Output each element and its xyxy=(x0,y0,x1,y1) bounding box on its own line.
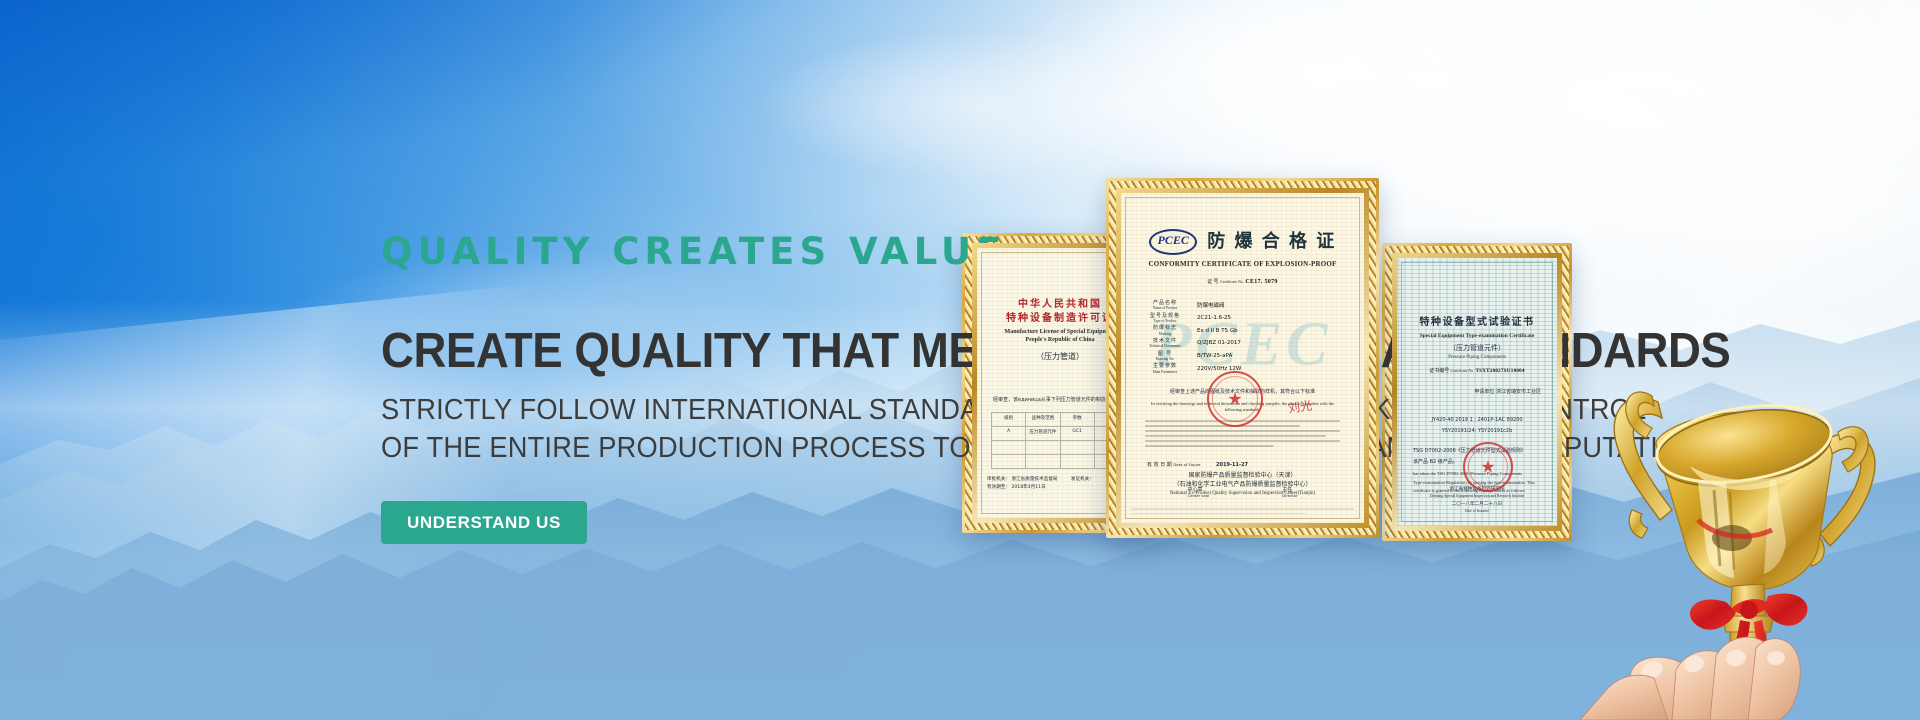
certificate-en-category: Pressure Piping Components xyxy=(1405,354,1549,361)
certificate-no-label: 编号： xyxy=(985,368,1121,375)
certificate-footnote-lines xyxy=(1121,505,1364,517)
official-seal-stamp xyxy=(1463,442,1513,492)
understand-us-button[interactable]: UNDERSTAND US xyxy=(381,501,587,544)
table-cell xyxy=(1061,455,1095,468)
seal-inner-ring xyxy=(1468,447,1508,487)
certificate-applicant-label: 申请单位 xyxy=(1474,389,1494,395)
table-row: 产品名称 Name of Product 防爆电磁阀 xyxy=(1135,299,1350,312)
table-cell xyxy=(1061,441,1095,454)
certificate-issuer-cn-line1: 国家防爆产品质量监督检验中心（天津） xyxy=(1121,471,1364,480)
certificate-en-title: Special Equipment Type-examination Certi… xyxy=(1405,333,1549,341)
field-value: 防爆电磁阀 xyxy=(1195,299,1350,312)
table-cell: GC1 xyxy=(1061,427,1095,440)
field-label: 防爆标志 Marking xyxy=(1135,324,1195,337)
certificate-cn-title: 特种设备型式试验证书 xyxy=(1405,316,1549,330)
certificate-no-label-en: Certificate No. xyxy=(1220,279,1244,284)
certificate-product-values: YSY20191i24; YSY20191c2b xyxy=(1442,428,1513,434)
official-seal-stamp xyxy=(1207,371,1263,427)
certificate-validity-value: 2018年4月11日 xyxy=(1011,485,1045,490)
field-label-cn: 图 号 xyxy=(1158,351,1173,357)
certificate-issuer-en: National Ex-Product Quality Supervision … xyxy=(1121,490,1364,498)
field-value: B/TW-25-aPA xyxy=(1195,350,1350,363)
certificate-no-value: CE17. 5079 xyxy=(1245,279,1277,285)
certificate-no-label-cn: 证 号 xyxy=(1207,280,1218,285)
certificate-approver-label: 审批机关： xyxy=(987,477,1010,482)
certificate-body-center: PCEC 防 爆 合 格 证 CONFORMITY CERTIFICATE OF… xyxy=(1135,229,1350,287)
certificate-frame-center[interactable]: PCEC PCEC 防 爆 合 格 证 CONFORMITY CERTIFICA… xyxy=(1106,178,1379,538)
field-label-en: Main Parameters xyxy=(1137,370,1193,374)
table-cell xyxy=(992,441,1026,454)
certificate-no-label-en: Certificate No. xyxy=(1450,368,1474,373)
field-value: 220V/50Hz 12W xyxy=(1195,362,1350,375)
certificate-cn-category: （压力管道元件） xyxy=(1405,344,1549,354)
director-signature: 刘光 xyxy=(1287,396,1313,416)
field-label: 型号及规格 Type of Product xyxy=(1135,312,1195,325)
certificate-approver-value: 浙江省质量技术监督局 xyxy=(1011,477,1057,482)
field-label-en: Technical Documents xyxy=(1137,344,1193,348)
field-label-en: Type of Product xyxy=(1137,319,1193,323)
field-label-en: Marking xyxy=(1137,332,1193,336)
table-header-cell: 级别 xyxy=(992,413,1026,426)
field-label-en: Drawing No. xyxy=(1137,357,1193,361)
table-cell: A xyxy=(992,427,1026,440)
table-cell xyxy=(992,455,1026,468)
table-cell xyxy=(1026,455,1060,468)
table-row: 防爆标志 Marking Ex d II B T5 Gb xyxy=(1135,324,1350,337)
table-header-cell: 品种及范围 xyxy=(1026,413,1060,426)
field-label: 图 号 Drawing No. xyxy=(1135,350,1195,363)
certificate-paper-right: 特种设备型式试验证书 Special Equipment Type-examin… xyxy=(1397,258,1557,526)
certificate-issuer-cn-line2: （石油和化学工业电气产品防爆质量监督检验中心） xyxy=(1121,480,1364,489)
table-cell xyxy=(1026,441,1060,454)
certificate-no-label-cn: 证书编号 xyxy=(1429,369,1449,374)
certificate-issue-date-cn: 二〇一八年二月二十八日 xyxy=(1397,502,1557,509)
certificate-applicant-value: 浙江省瑞安市工业区 xyxy=(1496,389,1541,395)
field-label-cn: 产品名称 xyxy=(1153,300,1177,306)
certificate-issuer-en: Zhejiang Special Equipment Inspection an… xyxy=(1397,494,1557,500)
seal-inner-ring xyxy=(1212,376,1258,422)
table-cell: 压力管道元件 xyxy=(1026,427,1060,440)
certificate-expiry-label-cn: 有 效 日 期 xyxy=(1147,462,1172,468)
certificate-expiry-value: 2019-11-27 xyxy=(1216,462,1248,468)
certificate-issue-date-label-en: Date of Issuance xyxy=(1397,509,1557,514)
certificate-expiry-label-en: Date of Expire xyxy=(1173,462,1200,467)
field-label-cn: 防爆标志 xyxy=(1153,325,1177,331)
certificate-model-values: JY420-40 2019 1 ; 2401P-1AC 89200 xyxy=(1431,417,1522,423)
certificate-no-value: TSXT20027SU10004 xyxy=(1476,369,1525,374)
certificate-paper-center: PCEC PCEC 防 爆 合 格 证 CONFORMITY CERTIFICA… xyxy=(1121,193,1364,523)
certificate-frame-inner: PCEC PCEC 防 爆 合 格 证 CONFORMITY CERTIFICA… xyxy=(1116,188,1369,528)
certificate-frame-right[interactable]: 特种设备型式试验证书 Special Equipment Type-examin… xyxy=(1382,243,1572,541)
field-label-en: Name of Product xyxy=(1137,306,1193,310)
table-header-cell: 参数 xyxy=(1061,413,1095,426)
field-value: Ex d II B T5 Gb xyxy=(1195,324,1350,337)
pcec-logo-icon: PCEC xyxy=(1149,229,1197,255)
certificate-cn-title: 防 爆 合 格 证 xyxy=(1207,230,1336,254)
field-label: 产品名称 Name of Product xyxy=(1135,299,1195,312)
field-label-cn: 技术文件 xyxy=(1153,338,1177,344)
certificate-issuer-label: 发证机关： xyxy=(1071,477,1094,482)
field-label: 主要参数 Main Parameters xyxy=(1135,362,1195,375)
table-row: 型号及规格 Type of Product 2C21-1.6-25 xyxy=(1135,312,1350,325)
field-value: Q/ZJBZ 01-2017 xyxy=(1195,337,1350,350)
certificate-field-table: 产品名称 Name of Product 防爆电磁阀 型号及规格 Type of… xyxy=(1135,299,1350,375)
field-label: 技术文件 Technical Documents xyxy=(1135,337,1195,350)
table-row: 图 号 Drawing No. B/TW-25-aPA xyxy=(1135,350,1350,363)
field-label-cn: 主要参数 xyxy=(1153,363,1177,369)
hero-banner: 中华人民共和国 特种设备制造许可证 Manufacture License of… xyxy=(0,0,1920,720)
certificate-validity-label: 有效期至： xyxy=(987,485,1010,490)
field-value: 2C21-1.6-25 xyxy=(1195,312,1350,325)
certificate-en-title: CONFORMITY CERTIFICATE OF EXPLOSION-PROO… xyxy=(1135,260,1350,270)
certificate-body-right: 特种设备型式试验证书 Special Equipment Type-examin… xyxy=(1405,316,1549,375)
field-label-cn: 型号及规格 xyxy=(1150,313,1180,319)
certificate-frame-inner: 特种设备型式试验证书 Special Equipment Type-examin… xyxy=(1392,253,1562,531)
table-row: 技术文件 Technical Documents Q/ZJBZ 01-2017 xyxy=(1135,337,1350,350)
